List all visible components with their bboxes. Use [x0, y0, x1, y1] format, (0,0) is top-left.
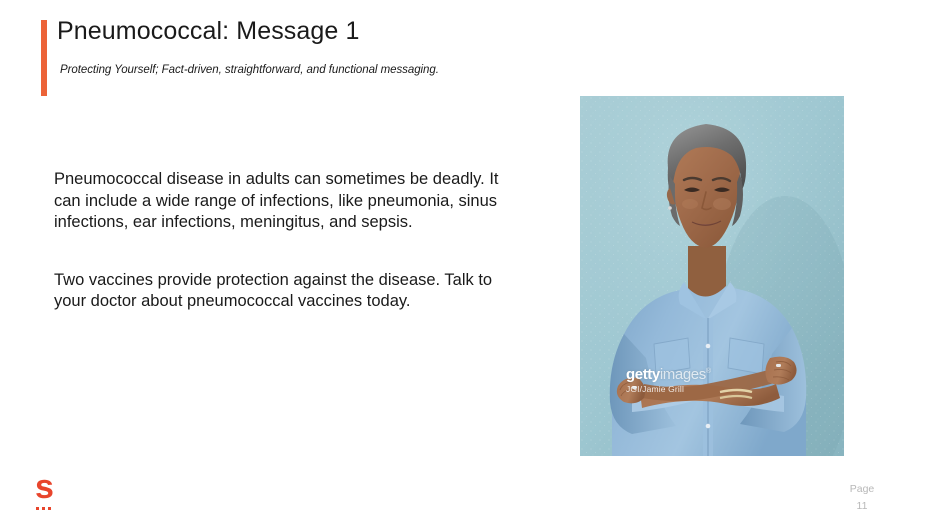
title-block: Pneumococcal: Message 1 Protecting Yours… — [41, 20, 601, 96]
body-paragraph-1: Pneumococcal disease in adults can somet… — [54, 169, 506, 234]
slide: Pneumococcal: Message 1 Protecting Yours… — [0, 0, 943, 530]
logo-dot-1 — [36, 507, 39, 510]
photo-illustration — [580, 96, 844, 456]
page-label: Page — [839, 481, 885, 498]
brand-logo: s — [35, 472, 79, 518]
body-copy: Pneumococcal disease in adults can somet… — [54, 169, 506, 313]
logo-dots-icon — [36, 507, 79, 510]
page-title: Pneumococcal: Message 1 — [57, 17, 359, 46]
accent-bar — [41, 20, 47, 96]
body-paragraph-2: Two vaccines provide protection against … — [54, 270, 506, 313]
page-number-block: Page 11 — [839, 481, 885, 515]
logo-letter-s: s — [35, 472, 79, 502]
logo-dot-3 — [48, 507, 51, 510]
page-number: 11 — [839, 498, 885, 515]
logo-dot-2 — [42, 507, 45, 510]
page-subtitle: Protecting Yourself; Fact-driven, straig… — [60, 64, 439, 76]
photo-woman-denim-shirt: gettyimages® JGI/Jamie Grill — [580, 96, 844, 456]
